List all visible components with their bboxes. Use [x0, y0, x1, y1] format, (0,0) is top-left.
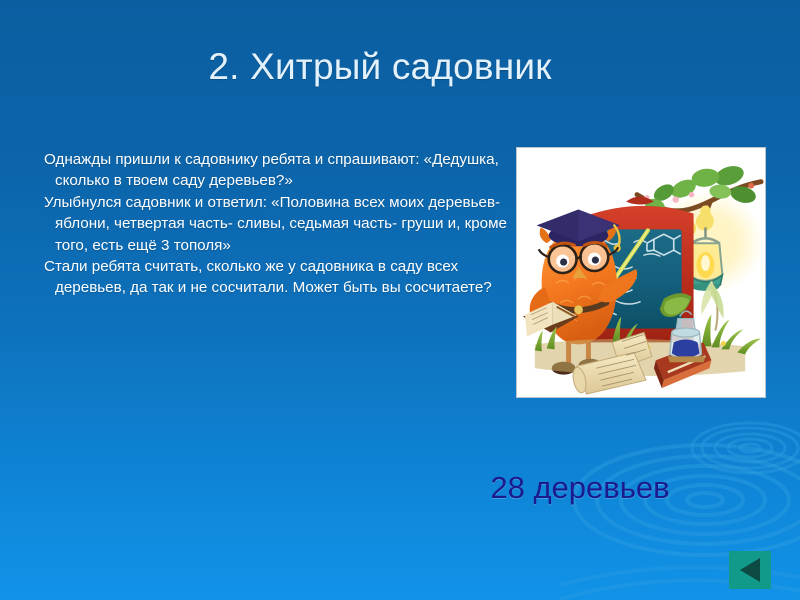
body-text-block: Однажды пришли к садовнику ребята и спра…: [22, 149, 522, 299]
illustration-canvas: [517, 148, 765, 397]
back-arrow-icon: [740, 558, 760, 582]
body-paragraph-2: Улыбнулся садовник и ответил: «Половина …: [22, 192, 522, 256]
back-navigation-button[interactable]: [729, 551, 771, 589]
answer-text: 28 деревьев: [430, 468, 730, 508]
body-paragraph-3: Стали ребята считать, сколько же у садов…: [22, 256, 522, 299]
presentation-slide: 2. Хитрый садовник Однажды пришли к садо…: [0, 0, 800, 600]
slide-title: 2. Хитрый садовник: [40, 44, 760, 90]
owl-professor-illustration: [516, 147, 766, 398]
body-paragraph-1: Однажды пришли к садовнику ребята и спра…: [22, 149, 522, 192]
